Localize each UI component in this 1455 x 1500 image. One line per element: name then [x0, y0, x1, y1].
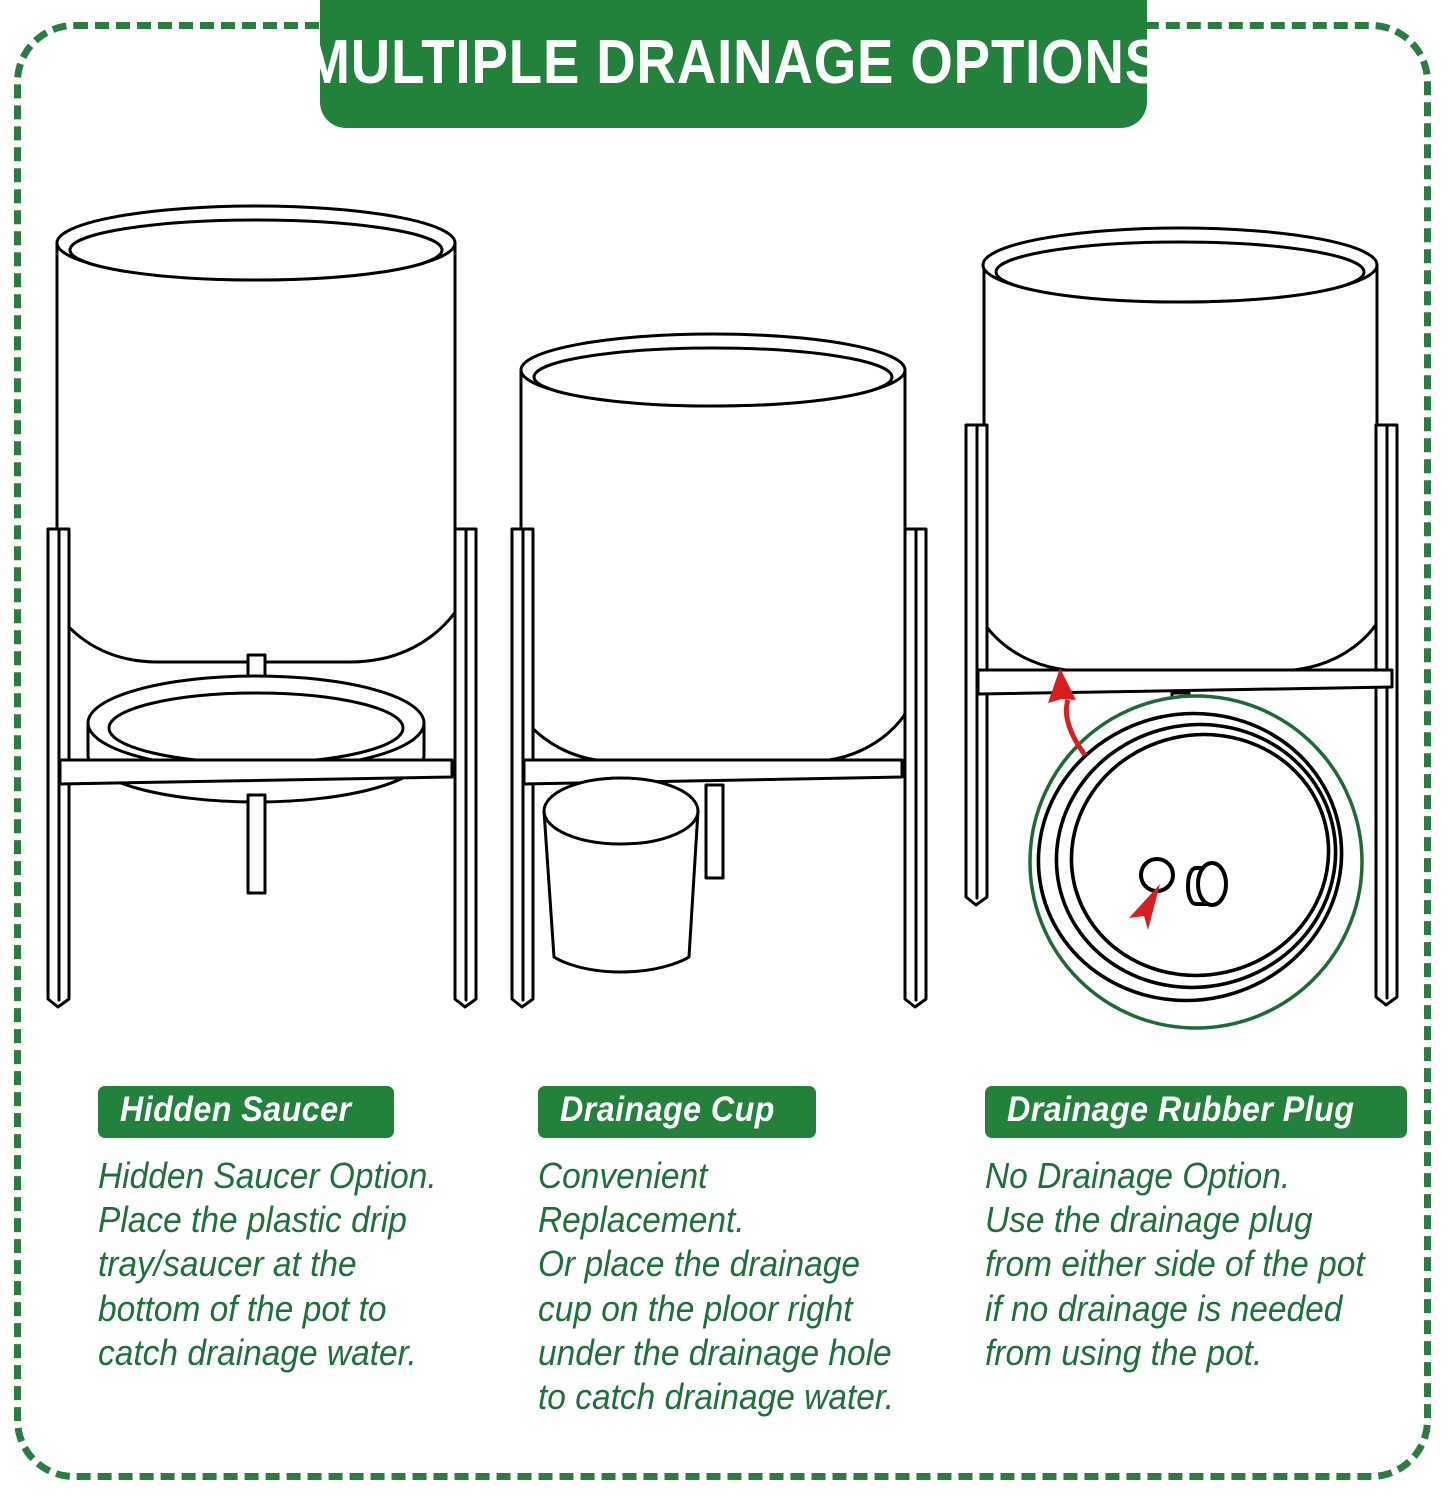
illustration-drainage-cup	[512, 334, 926, 1007]
stand-center-post-lower-1	[248, 795, 265, 893]
stand-center-post-2	[706, 785, 723, 878]
pot-rim-inner-1	[70, 220, 442, 280]
illustration-hidden-saucer	[48, 206, 476, 1007]
caption-columns: Hidden Saucer Hidden Saucer Option. Plac…	[0, 1086, 1455, 1486]
infographic-root: MULTIPLE DRAINAGE OPTIONS	[0, 0, 1455, 1500]
pot-body-3	[984, 265, 1377, 671]
stand-leg-right-2	[905, 529, 926, 1007]
caption-body: Hidden Saucer Option. Place the plastic …	[98, 1154, 470, 1375]
stand-leg-left-3	[966, 425, 987, 905]
stand-leg-right-1	[455, 529, 476, 1007]
pot-rim-inner-3	[996, 242, 1364, 302]
illustrations-svg	[0, 0, 1455, 1070]
stand-cross-rail-2	[524, 760, 902, 784]
badge-label: Hidden Saucer	[120, 1092, 351, 1129]
rubber-plug	[1188, 863, 1226, 905]
magnifier-callout	[1010, 683, 1371, 1030]
stand-leg-right-3	[1376, 425, 1397, 1005]
pot-body-1	[57, 243, 455, 662]
badge-label: Drainage Cup	[560, 1092, 775, 1129]
badge-drainage-cup: Drainage Cup	[538, 1086, 816, 1138]
drainage-cup	[544, 778, 698, 972]
pot-rim-inner-2	[534, 348, 892, 406]
drainage-hole	[1141, 859, 1173, 891]
caption-body: No Drainage Option. Use the drainage plu…	[985, 1154, 1368, 1375]
pot-body-2	[521, 370, 905, 762]
caption-column-drainage-cup: Drainage Cup Convenient Replacement. Or …	[538, 1086, 938, 1419]
badge-label: Drainage Rubber Plug	[1007, 1092, 1354, 1129]
illustration-stage	[0, 0, 1455, 1070]
badge-drainage-rubber-plug: Drainage Rubber Plug	[985, 1086, 1407, 1138]
caption-column-hidden-saucer: Hidden Saucer Hidden Saucer Option. Plac…	[98, 1086, 498, 1375]
badge-hidden-saucer: Hidden Saucer	[98, 1086, 394, 1138]
stand-cross-rail-3	[978, 670, 1392, 694]
caption-column-rubber-plug: Drainage Rubber Plug No Drainage Option.…	[985, 1086, 1397, 1375]
caption-body: Convenient Replacement. Or place the dra…	[538, 1154, 910, 1420]
